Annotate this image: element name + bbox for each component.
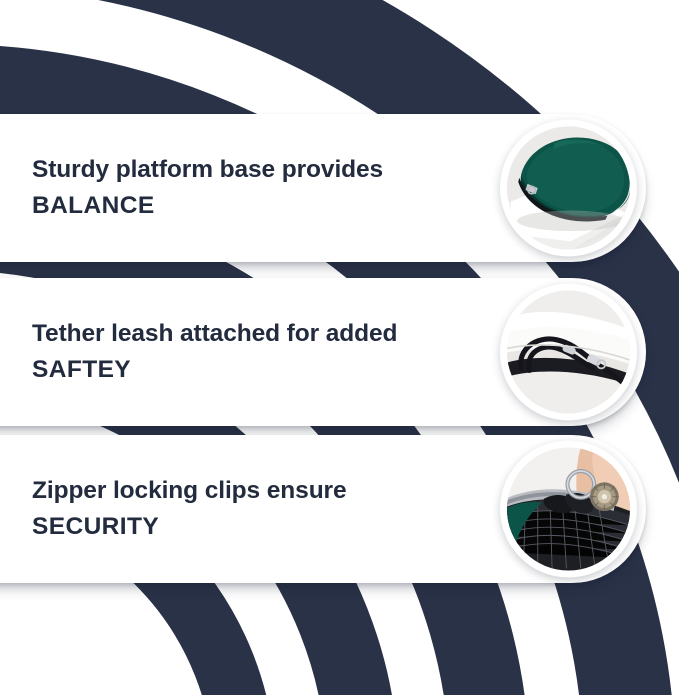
black-tether-leash-photo bbox=[507, 291, 630, 414]
feature-emphasis-text: SECURITY bbox=[32, 509, 462, 545]
feature-photo-frame-safety bbox=[500, 284, 637, 421]
feature-card-security: Zipper locking clips ensure SECURITY bbox=[0, 435, 646, 583]
feature-text-safety: Tether leash attached for added SAFTEY bbox=[32, 316, 462, 388]
feature-emphasis-text: BALANCE bbox=[32, 188, 462, 224]
green-pouch-on-white-platform-photo bbox=[507, 127, 630, 250]
feature-lead-text: Zipper locking clips ensure bbox=[32, 473, 462, 509]
feature-lead-text: Sturdy platform base provides bbox=[32, 152, 462, 188]
feature-photo-frame-balance bbox=[500, 120, 637, 257]
feature-text-balance: Sturdy platform base provides BALANCE bbox=[32, 152, 462, 224]
feature-card-safety: Tether leash attached for added SAFTEY bbox=[0, 278, 646, 426]
feature-photo-frame-security bbox=[500, 441, 637, 578]
feature-text-security: Zipper locking clips ensure SECURITY bbox=[32, 473, 462, 545]
zipper-locking-clips-photo bbox=[507, 448, 630, 571]
feature-card-balance: Sturdy platform base provides BALANCE bbox=[0, 114, 646, 262]
feature-emphasis-text: SAFTEY bbox=[32, 352, 462, 388]
feature-lead-text: Tether leash attached for added bbox=[32, 316, 462, 352]
product-feature-infographic: Sturdy platform base provides BALANCE bbox=[0, 0, 679, 695]
